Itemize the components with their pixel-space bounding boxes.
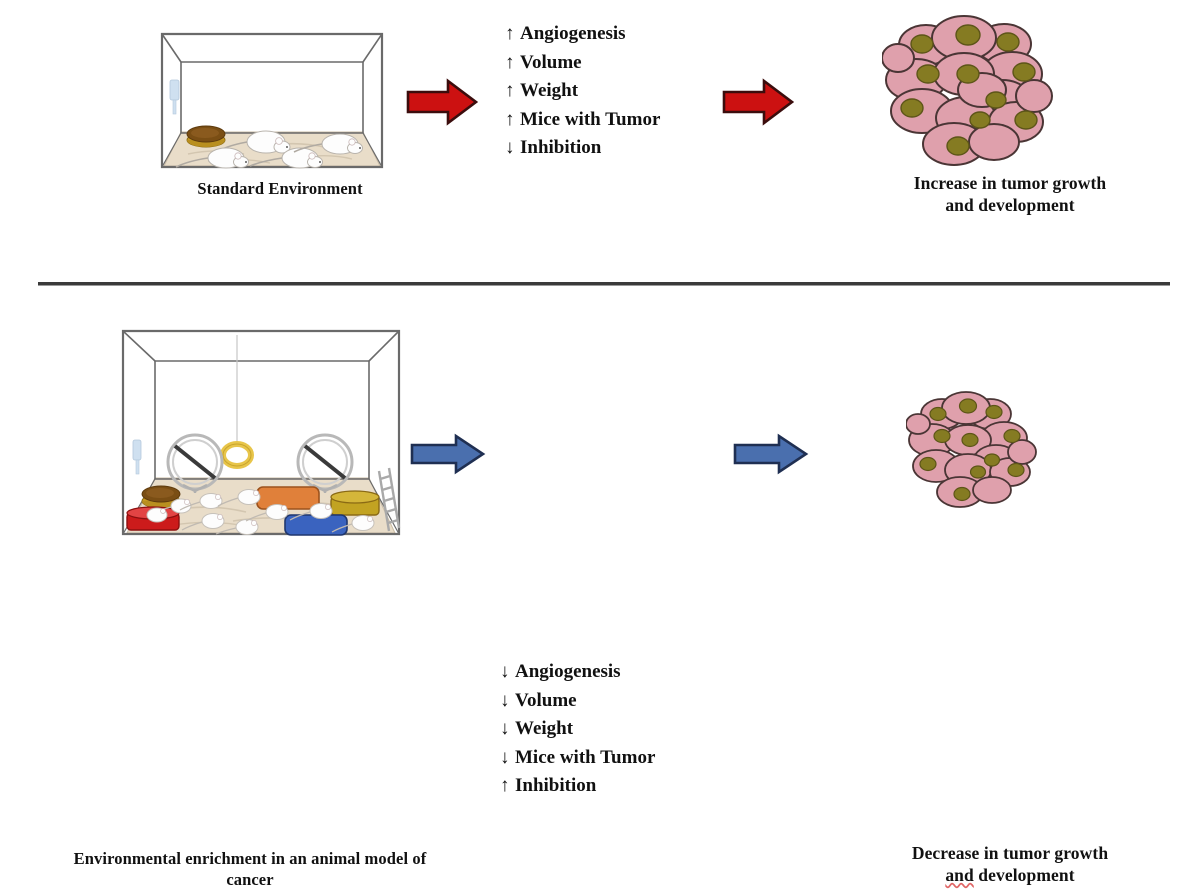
panel-standard-environment: Standard Environment ↑Angiogenesis ↑Volu… bbox=[0, 0, 1200, 283]
outcome-direction-icon: ↓ bbox=[505, 134, 520, 163]
figure-canvas: Standard Environment ↑Angiogenesis ↑Volu… bbox=[0, 0, 1200, 640]
blue-arrow-outcomes-to-tumor bbox=[733, 433, 809, 475]
outcome-item: ↑Mice with Tumor bbox=[505, 106, 660, 135]
outcome-item: ↑Inhibition bbox=[500, 772, 655, 801]
outcome-item: ↓Weight bbox=[500, 715, 655, 744]
outcome-item: ↑Angiogenesis bbox=[505, 20, 660, 49]
panel-divider bbox=[38, 282, 1170, 285]
outcome-direction-icon: ↑ bbox=[505, 49, 520, 78]
outcome-item: ↓Angiogenesis bbox=[500, 658, 655, 687]
outcome-label: Inhibition bbox=[515, 775, 596, 796]
outcome-direction-icon: ↑ bbox=[505, 106, 520, 135]
outcome-direction-icon: ↓ bbox=[500, 715, 515, 744]
outcome-direction-icon: ↓ bbox=[500, 658, 515, 687]
decrease-outcome-caption: Decrease in tumor growth and development bbox=[825, 842, 1195, 887]
increase-line-1: Increase in tumor growth bbox=[914, 173, 1106, 193]
decrease-line-1: Decrease in tumor growth bbox=[912, 843, 1108, 863]
outcome-item: ↑Volume bbox=[505, 49, 660, 78]
standard-cage-illustration bbox=[148, 28, 396, 170]
outcome-label: Volume bbox=[515, 690, 577, 711]
blue-arrow-cage-to-outcomes bbox=[410, 433, 486, 475]
large-tumor-cluster bbox=[882, 12, 1054, 170]
outcome-direction-icon: ↑ bbox=[500, 772, 515, 801]
outcome-label: Angiogenesis bbox=[520, 23, 626, 44]
outcome-direction-icon: ↑ bbox=[505, 77, 520, 106]
enriched-outcome-list: ↓Angiogenesis ↓Volume ↓Weight ↓Mice with… bbox=[500, 658, 655, 801]
red-arrow-outcomes-to-tumor bbox=[722, 78, 794, 126]
enriched-caption-line-2: cancer bbox=[226, 870, 273, 889]
red-arrow-cage-to-outcomes bbox=[406, 78, 478, 126]
standard-caption-text: Standard Environment bbox=[197, 179, 362, 198]
outcome-label: Angiogenesis bbox=[515, 661, 621, 682]
enriched-environment-caption: Environmental enrichment in an animal mo… bbox=[10, 848, 490, 890]
outcome-label: Mice with Tumor bbox=[515, 747, 655, 768]
enriched-cage-illustration bbox=[113, 325, 409, 540]
increase-line-2: and development bbox=[945, 195, 1074, 215]
outcome-direction-icon: ↓ bbox=[500, 744, 515, 773]
enriched-caption-line-1: Environmental enrichment in an animal mo… bbox=[74, 849, 427, 868]
standard-outcome-list: ↑Angiogenesis ↑Volume ↑Weight ↑Mice with… bbox=[505, 20, 660, 163]
outcome-direction-icon: ↑ bbox=[505, 20, 520, 49]
panel-enriched-environment: Environmental enrichment in an animal mo… bbox=[0, 290, 1200, 640]
outcome-item: ↓Inhibition bbox=[505, 134, 660, 163]
decrease-line-2-rest: development bbox=[974, 865, 1075, 885]
increase-outcome-caption: Increase in tumor growth and development bbox=[825, 172, 1195, 217]
outcome-item: ↓Volume bbox=[500, 687, 655, 716]
outcome-item: ↑Weight bbox=[505, 77, 660, 106]
outcome-label: Inhibition bbox=[520, 137, 601, 158]
outcome-direction-icon: ↓ bbox=[500, 687, 515, 716]
outcome-item: ↓Mice with Tumor bbox=[500, 744, 655, 773]
outcome-label: Weight bbox=[520, 80, 578, 101]
outcome-label: Mice with Tumor bbox=[520, 109, 660, 130]
standard-environment-caption: Standard Environment bbox=[130, 178, 430, 199]
decrease-line-2-misspelled: and bbox=[945, 865, 974, 885]
small-tumor-cluster bbox=[906, 390, 1040, 514]
outcome-label: Weight bbox=[515, 718, 573, 739]
outcome-label: Volume bbox=[520, 52, 582, 73]
